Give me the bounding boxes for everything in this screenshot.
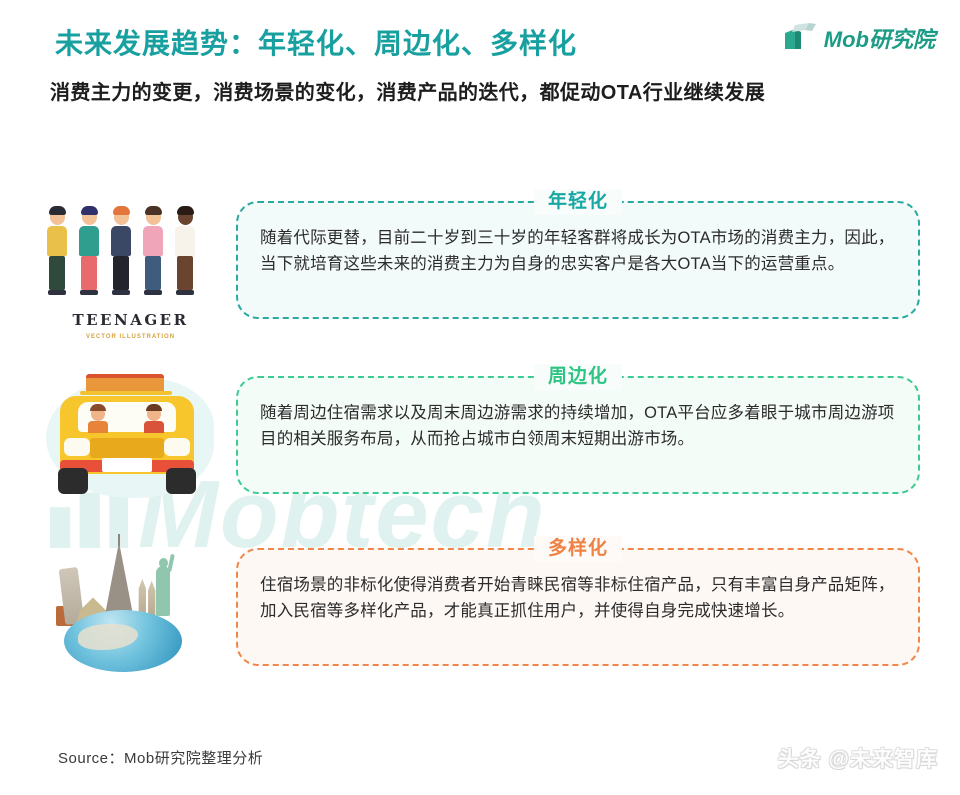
slide-footer: Source：Mob研究院整理分析 头条 @未来智库 <box>0 735 960 795</box>
teen-figure-4 <box>140 209 166 295</box>
car-license-plate <box>102 458 152 472</box>
teen-figure-1 <box>44 209 70 295</box>
car-wheel-right <box>166 468 196 494</box>
eiffel-tower-icon <box>104 542 134 620</box>
info-card-suburban: 周边化 随着周边住宿需求以及周末周边游需求的持续增加，OTA平台应多着眼于城市周… <box>236 376 920 494</box>
info-card-body-diversity: 住宿场景的非标化使得消费者开始青睐民宿等非标住宿产品，只有丰富自身产品矩阵，加入… <box>260 572 900 624</box>
section-row-diversity: 多样化 住宿场景的非标化使得消费者开始青睐民宿等非标住宿产品，只有丰富自身产品矩… <box>0 532 960 682</box>
slide-header: 未来发展趋势：年轻化、周边化、多样化 消费主力的变更，消费场景的变化，消费产品的… <box>0 0 960 125</box>
statue-of-liberty-torch-icon <box>167 554 175 572</box>
toutiao-watermark: 头条 @未来智库 <box>778 743 938 773</box>
world-landmarks-globe-illustration <box>38 532 223 682</box>
info-card-title-diversity: 多样化 <box>534 536 622 562</box>
car-headlight-right-icon <box>164 438 190 456</box>
info-card-diversity: 多样化 住宿场景的非标化使得消费者开始青睐民宿等非标住宿产品，只有丰富自身产品矩… <box>236 548 920 666</box>
info-card-title-youth: 年轻化 <box>534 189 622 215</box>
info-card-youth: 年轻化 随着代际更替，目前二十岁到三十岁的年轻客群将成长为OTA市场的消费主力，… <box>236 201 920 319</box>
page-subtitle: 消费主力的变更，消费场景的变化，消费产品的迭代，都促动OTA行业继续发展 <box>50 76 765 105</box>
info-card-body-suburban: 随着周边住宿需求以及周末周边游需求的持续增加，OTA平台应多着眼于城市周边游项目… <box>260 400 900 452</box>
teen-figure-5 <box>172 209 198 295</box>
section-row-youth: TEENAGER VECTOR ILLUSTRATION 年轻化 随着代际更替，… <box>0 185 960 335</box>
teenagers-illustration: TEENAGER VECTOR ILLUSTRATION <box>38 185 223 335</box>
page-title: 未来发展趋势：年轻化、周边化、多样化 <box>55 22 577 62</box>
source-note: Source：Mob研究院整理分析 <box>58 747 263 768</box>
teen-figure-3 <box>108 209 134 295</box>
teen-figure-2 <box>76 209 102 295</box>
car-headlight-left-icon <box>64 438 90 456</box>
car-passenger-left <box>86 404 110 430</box>
road-trip-car-illustration <box>38 360 223 510</box>
eiffel-tower-spire-icon <box>118 534 120 546</box>
illustration-subcaption: VECTOR ILLUSTRATION <box>38 334 223 340</box>
mob-graduation-cap-icon <box>783 23 817 53</box>
car-wheel-left <box>58 468 88 494</box>
car-grill <box>90 438 164 458</box>
info-card-title-suburban: 周边化 <box>534 364 622 390</box>
illustration-caption: TEENAGER <box>38 311 223 329</box>
statue-of-liberty-icon <box>156 566 170 616</box>
brand-logo-text: Mob研究院 <box>824 22 935 54</box>
roof-rack <box>80 391 172 395</box>
car-passenger-right <box>142 404 166 430</box>
brand-logo: Mob研究院 <box>783 18 935 58</box>
info-card-body-youth: 随着代际更替，目前二十岁到三十岁的年轻客群将成长为OTA市场的消费主力，因此，当… <box>260 225 900 277</box>
section-row-suburban: 周边化 随着周边住宿需求以及周末周边游需求的持续增加，OTA平台应多着眼于城市周… <box>0 360 960 510</box>
statue-of-liberty-head-icon <box>159 558 168 568</box>
